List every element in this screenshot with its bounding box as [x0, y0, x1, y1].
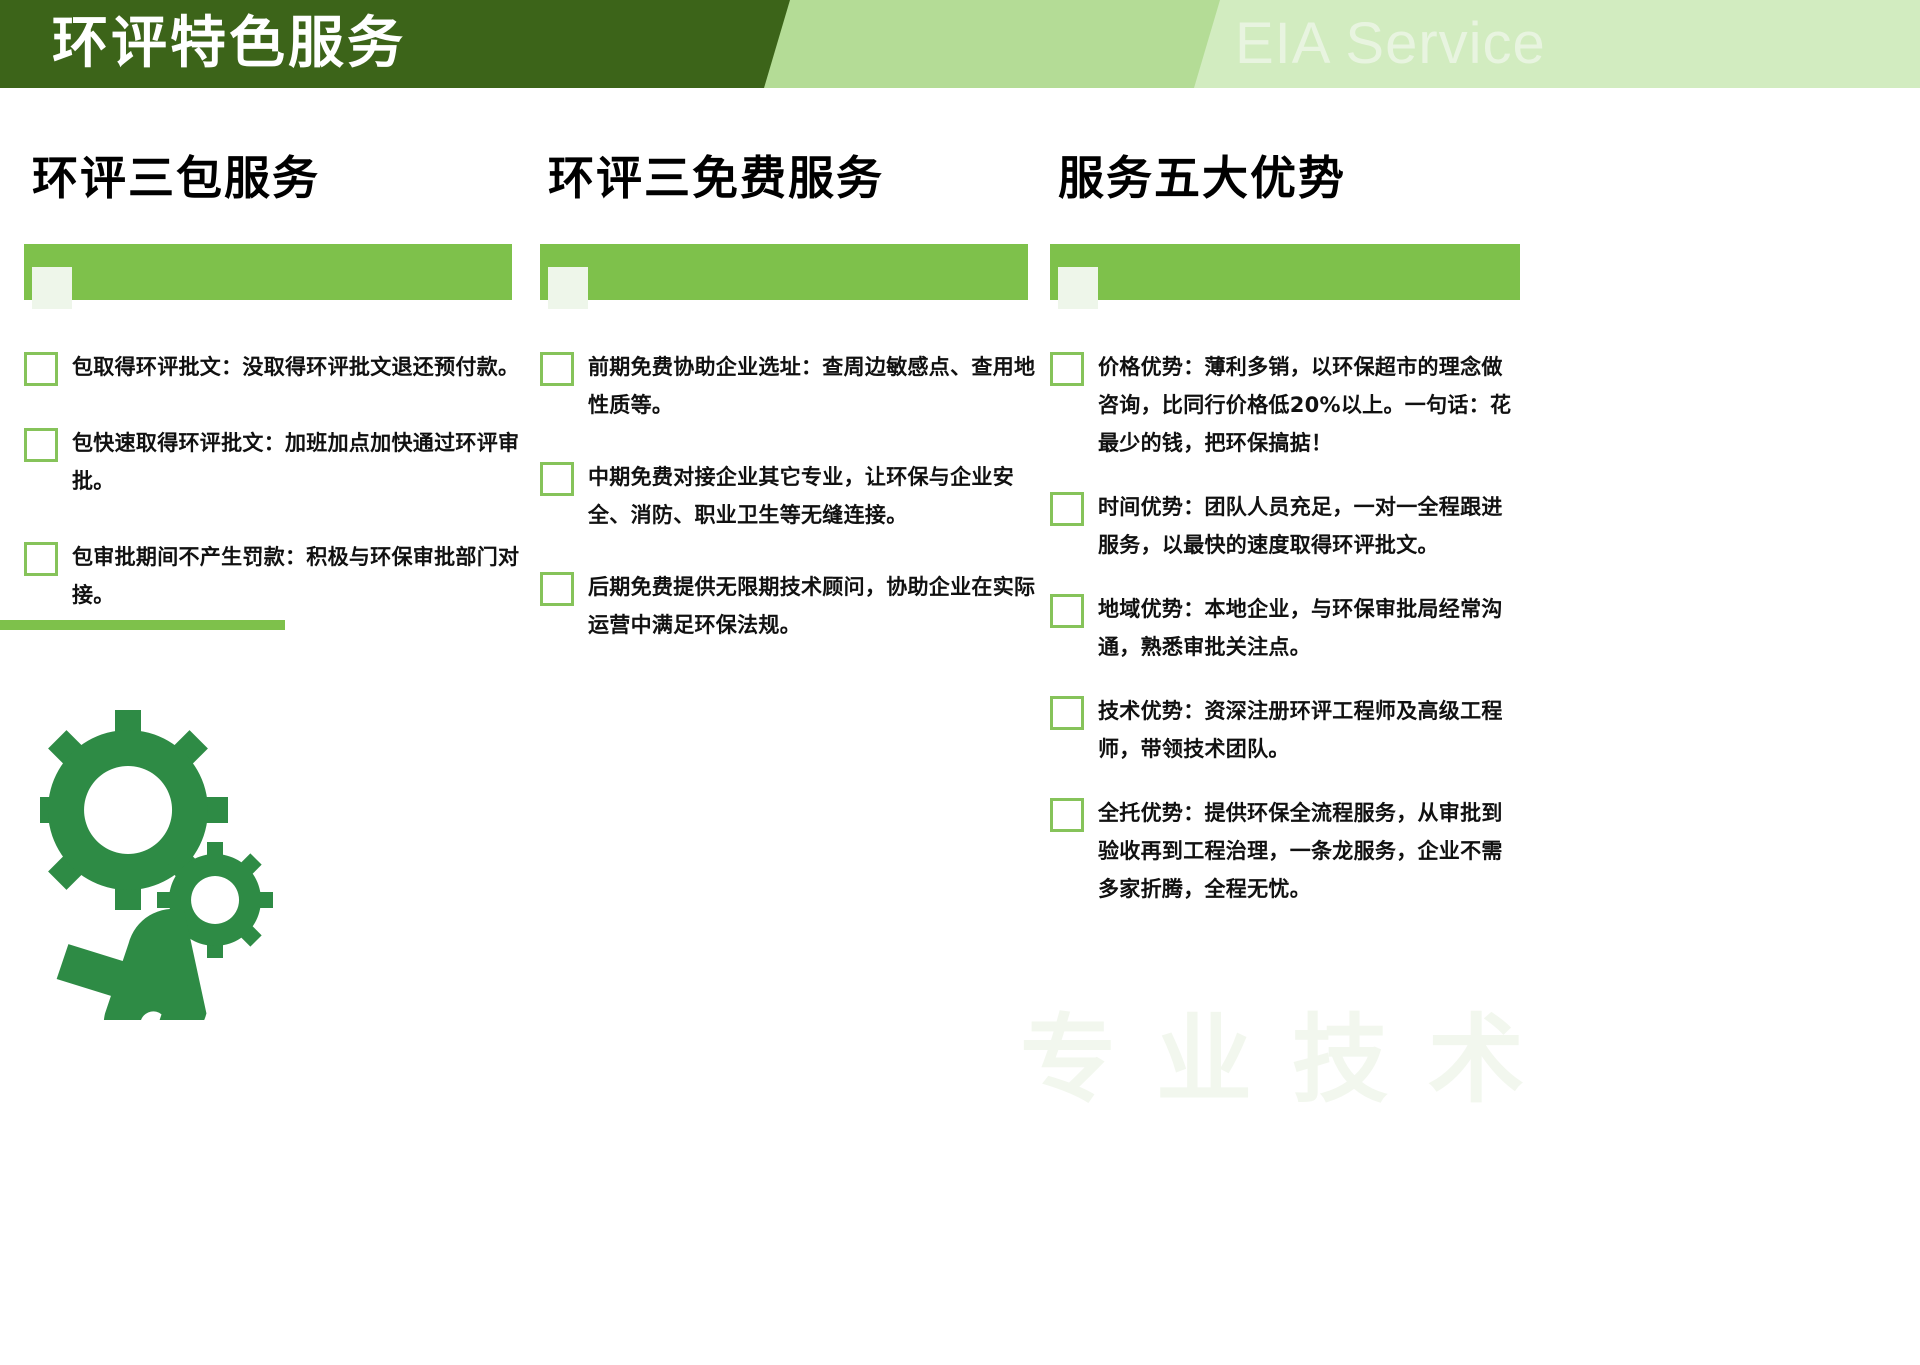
column-three-guarantees: 环评三包服务 包取得环评批文：没取得环评批文退还预付款。 包快速取得环评批文：加…: [24, 150, 524, 652]
page-subtitle: EIA Service: [1235, 8, 1546, 80]
column-title: 环评三包服务: [32, 150, 524, 206]
list-item[interactable]: 时间优势：团队人员充足，一对一全程跟进服务，以最快的速度取得环评批文。: [1050, 488, 1520, 564]
list-item-label: 价格优势：薄利多销，以环保超市的理念做咨询，比同行价格低20%以上。一句话：花最…: [1098, 348, 1518, 462]
list-item-label: 地域优势：本地企业，与环保审批局经常沟通，熟悉审批关注点。: [1098, 590, 1518, 666]
list-item-label: 技术优势：资深注册环评工程师及高级工程师，带领技术团队。: [1098, 692, 1518, 768]
background-watermark: 专业技术: [1020, 1000, 1564, 1120]
checkbox-icon[interactable]: [24, 428, 58, 462]
list-item-label: 前期免费协助企业选址：查周边敏感点、查用地性质等。: [588, 348, 1038, 424]
column-five-advantages: 服务五大优势 价格优势：薄利多销，以环保超市的理念做咨询，比同行价格低20%以上…: [1050, 150, 1520, 934]
list-item[interactable]: 前期免费协助企业选址：查周边敏感点、查用地性质等。: [540, 348, 1040, 424]
checkbox-icon[interactable]: [24, 352, 58, 386]
page-header: 环评特色服务 EIA Service: [0, 0, 1920, 88]
section-divider: [0, 620, 285, 630]
list-item[interactable]: 包快速取得环评批文：加班加点加快通过环评审批。: [24, 424, 524, 500]
wrench-icon: [46, 899, 233, 1020]
list-item-label: 后期免费提供无限期技术顾问，协助企业在实际运营中满足环保法规。: [588, 568, 1038, 644]
checkbox-icon[interactable]: [24, 542, 58, 576]
checkbox-icon[interactable]: [1050, 594, 1084, 628]
list-item-label: 包取得环评批文：没取得环评批文退还预付款。: [72, 348, 522, 386]
list-item[interactable]: 技术优势：资深注册环评工程师及高级工程师，带领技术团队。: [1050, 692, 1520, 768]
checkbox-icon[interactable]: [540, 352, 574, 386]
checkbox-icon[interactable]: [1050, 492, 1084, 526]
checkbox-icon[interactable]: [1050, 696, 1084, 730]
list-item[interactable]: 中期免费对接企业其它专业，让环保与企业安全、消防、职业卫生等无缝连接。: [540, 458, 1040, 534]
column-header-bar: [540, 244, 1028, 300]
list-item-label: 时间优势：团队人员充足，一对一全程跟进服务，以最快的速度取得环评批文。: [1098, 488, 1518, 564]
list-item-label: 全托优势：提供环保全流程服务，从审批到验收再到工程治理，一条龙服务，企业不需多家…: [1098, 794, 1518, 908]
list-item-label: 包审批期间不产生罚款：积极与环保审批部门对接。: [72, 538, 522, 614]
column-title: 服务五大优势: [1058, 150, 1520, 206]
column-three-free-services: 环评三免费服务 前期免费协助企业选址：查周边敏感点、查用地性质等。 中期免费对接…: [540, 150, 1040, 678]
column-bar-tab: [32, 267, 72, 309]
column-header-bar: [1050, 244, 1520, 300]
header-band-mid: [720, 0, 1220, 88]
checkbox-icon[interactable]: [1050, 798, 1084, 832]
gear-wrench-icon: [40, 700, 280, 1020]
page-title: 环评特色服务: [52, 11, 406, 77]
list-item[interactable]: 全托优势：提供环保全流程服务，从审批到验收再到工程治理，一条龙服务，企业不需多家…: [1050, 794, 1520, 908]
list-item[interactable]: 包审批期间不产生罚款：积极与环保审批部门对接。: [24, 538, 524, 614]
checkbox-icon[interactable]: [1050, 352, 1084, 386]
checkbox-icon[interactable]: [540, 462, 574, 496]
column-bar-tab: [548, 267, 588, 309]
list-item[interactable]: 包取得环评批文：没取得环评批文退还预付款。: [24, 348, 524, 386]
list-item[interactable]: 后期免费提供无限期技术顾问，协助企业在实际运营中满足环保法规。: [540, 568, 1040, 644]
column-bar-tab: [1058, 267, 1098, 309]
column-header-bar: [24, 244, 512, 300]
column-title: 环评三免费服务: [548, 150, 1040, 206]
list-item-label: 包快速取得环评批文：加班加点加快通过环评审批。: [72, 424, 522, 500]
list-item[interactable]: 价格优势：薄利多销，以环保超市的理念做咨询，比同行价格低20%以上。一句话：花最…: [1050, 348, 1520, 462]
list-item[interactable]: 地域优势：本地企业，与环保审批局经常沟通，熟悉审批关注点。: [1050, 590, 1520, 666]
list-item-label: 中期免费对接企业其它专业，让环保与企业安全、消防、职业卫生等无缝连接。: [588, 458, 1038, 534]
checkbox-icon[interactable]: [540, 572, 574, 606]
